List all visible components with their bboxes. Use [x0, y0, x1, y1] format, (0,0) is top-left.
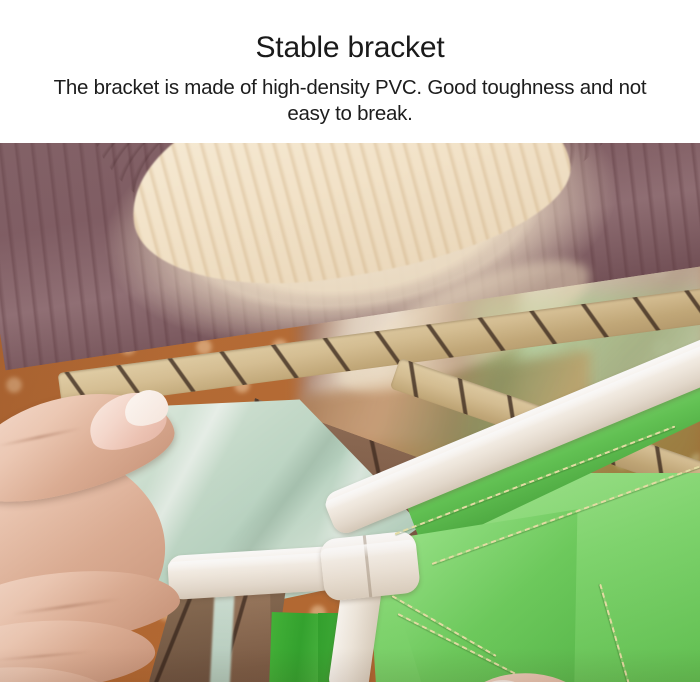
connector-highlight — [320, 539, 417, 563]
thumb-crease — [0, 427, 82, 447]
header-text-block: Stable bracket The bracket is made of hi… — [0, 0, 700, 143]
photo-scene — [0, 143, 700, 682]
finger-crease — [12, 597, 122, 615]
finger-crease — [0, 650, 92, 661]
page-title: Stable bracket — [256, 32, 445, 64]
subtitle-line-1: The bracket is made of high-density PVC.… — [54, 76, 575, 99]
page-subtitle: The bracket is made of high-density PVC.… — [30, 75, 670, 128]
footer-spacer — [0, 682, 700, 700]
product-feature-panel: Stable bracket The bracket is made of hi… — [0, 0, 700, 700]
product-photo — [0, 143, 700, 682]
pvc-connector — [319, 530, 421, 602]
